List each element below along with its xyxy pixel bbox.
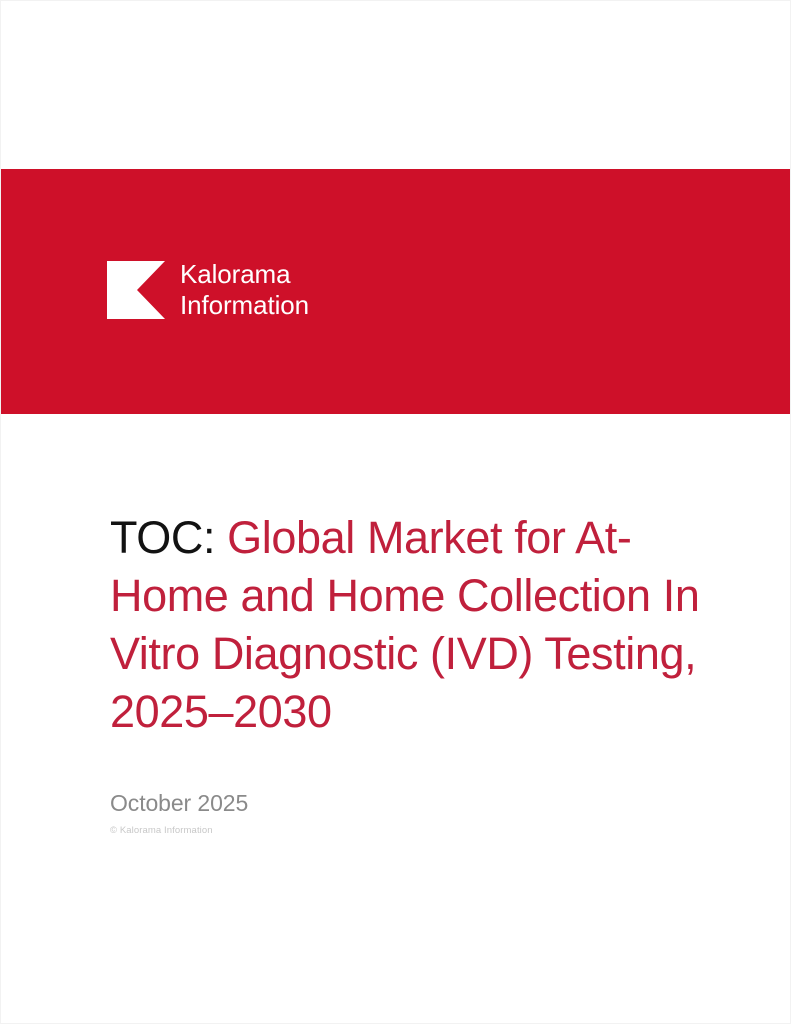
title-prefix: TOC:	[110, 512, 215, 563]
publication-meta: October 2025 © Kalorama Information	[110, 789, 610, 837]
kalorama-wordmark: Kalorama Information	[180, 259, 309, 320]
kalorama-k-mark-icon	[107, 261, 165, 319]
brand-banner: Kalorama Information	[1, 169, 791, 414]
title-block: TOC: Global Market for At-Home and Home …	[110, 509, 710, 741]
report-cover-page: Kalorama Information TOC: Global Market …	[0, 0, 791, 1024]
copyright-notice: © Kalorama Information	[110, 824, 610, 837]
page-title: TOC: Global Market for At-Home and Home …	[110, 509, 710, 741]
publication-date: October 2025	[110, 789, 610, 817]
brand-lockup: Kalorama Information	[107, 259, 309, 320]
